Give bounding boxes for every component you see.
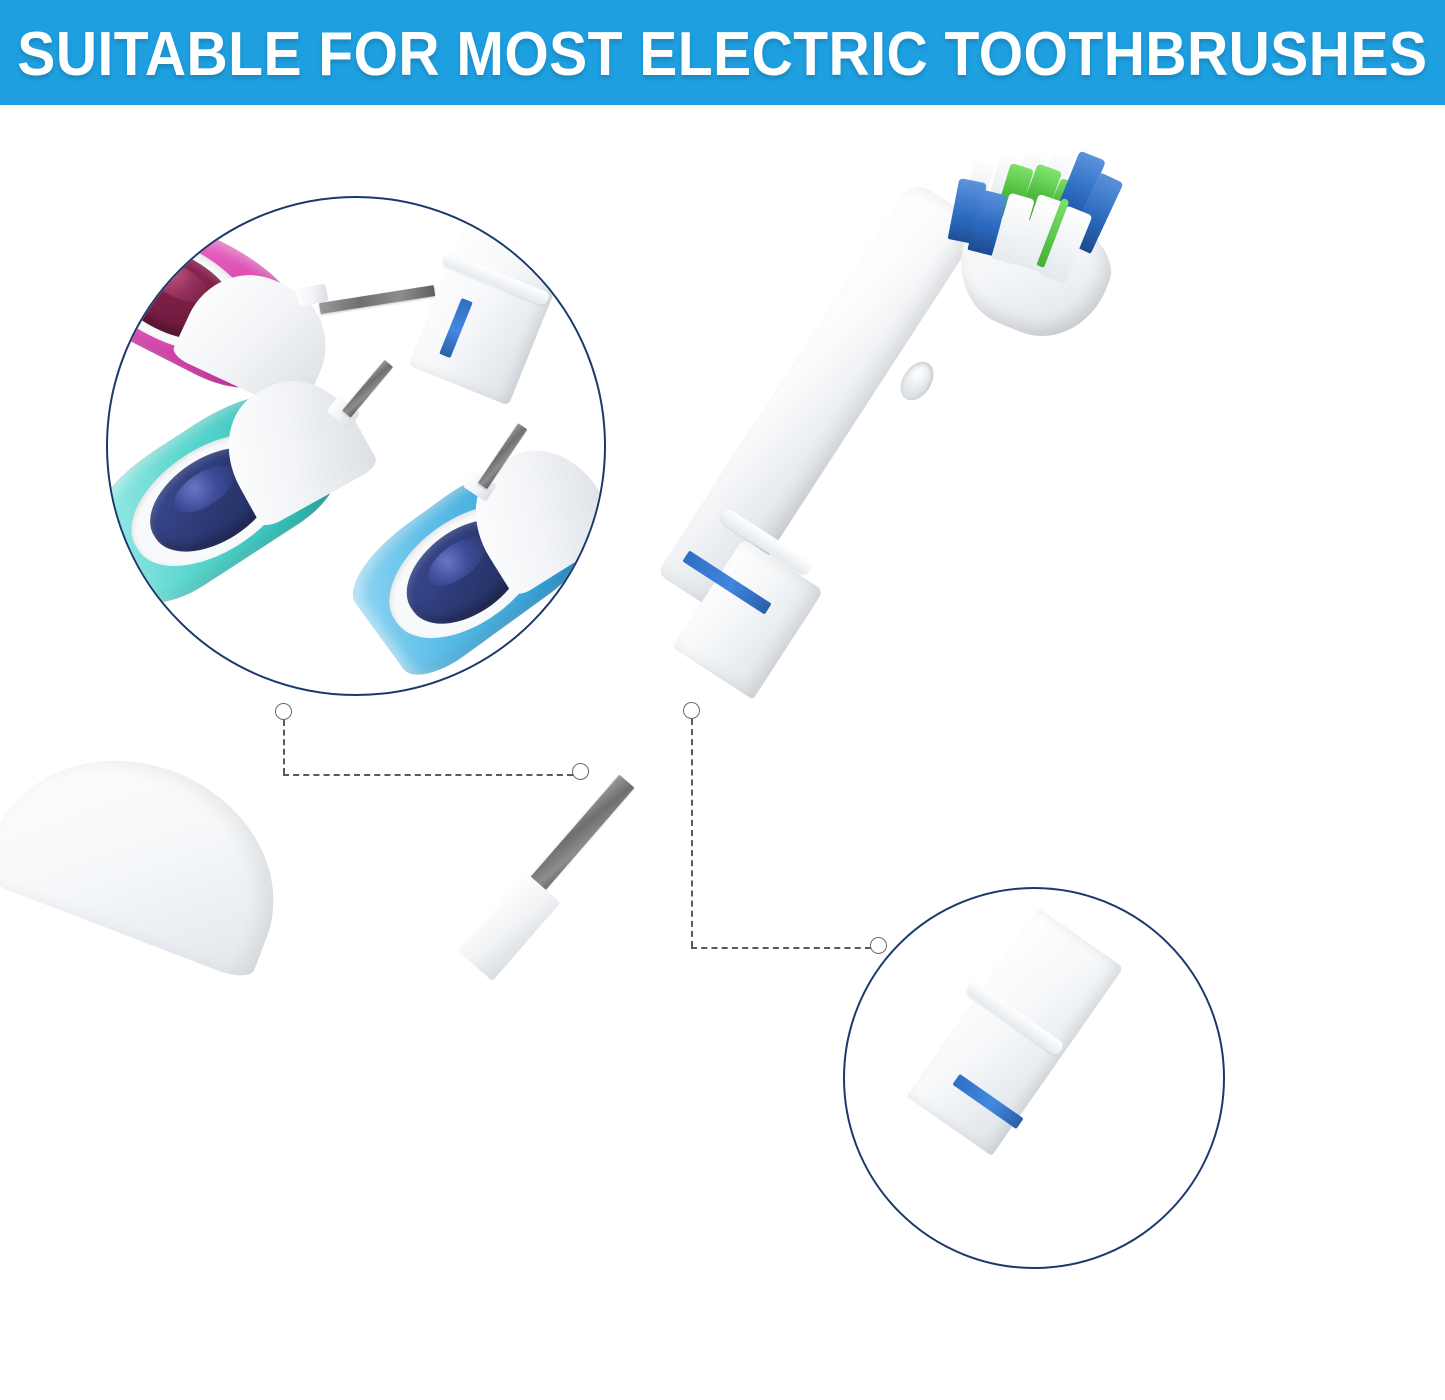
pink-handle-metal-shaft bbox=[319, 285, 435, 314]
electric-toothbrush-handle bbox=[0, 754, 385, 1400]
headline-banner: SUITABLE FOR MOST ELECTRIC TOOTHBRUSHES bbox=[0, 0, 1445, 105]
teal-handle bbox=[106, 375, 348, 618]
connector-dot-handles-circle bbox=[275, 703, 292, 720]
handle-shaft-collar bbox=[458, 872, 561, 981]
brush-head-socket-piece bbox=[408, 198, 576, 405]
connector-line-handles-horizontal bbox=[283, 774, 573, 776]
connector-line-socket-horizontal bbox=[691, 947, 871, 949]
connector-line-socket-vertical bbox=[691, 719, 693, 947]
connector-dot-main-shaft bbox=[572, 763, 589, 780]
headline-text: SUITABLE FOR MOST ELECTRIC TOOTHBRUSHES bbox=[17, 20, 1427, 86]
connector-line-handles-vertical bbox=[283, 720, 285, 774]
brush-head-indicator bbox=[894, 356, 940, 406]
teal-handle-metal-shaft bbox=[342, 360, 393, 418]
replacement-brush-head bbox=[670, 130, 1200, 730]
connector-dot-socket-circle bbox=[870, 937, 887, 954]
connector-dot-brush-socket bbox=[683, 702, 700, 719]
handle-neck bbox=[0, 720, 310, 983]
product-infographic: SUITABLE FOR MOST ELECTRIC TOOTHBRUSHES bbox=[0, 0, 1445, 1400]
brush-head-stem bbox=[657, 179, 983, 619]
pink-handle bbox=[106, 196, 307, 401]
detail-circle-socket-end bbox=[843, 887, 1225, 1269]
detail-circle-compatible-handles bbox=[106, 196, 606, 696]
